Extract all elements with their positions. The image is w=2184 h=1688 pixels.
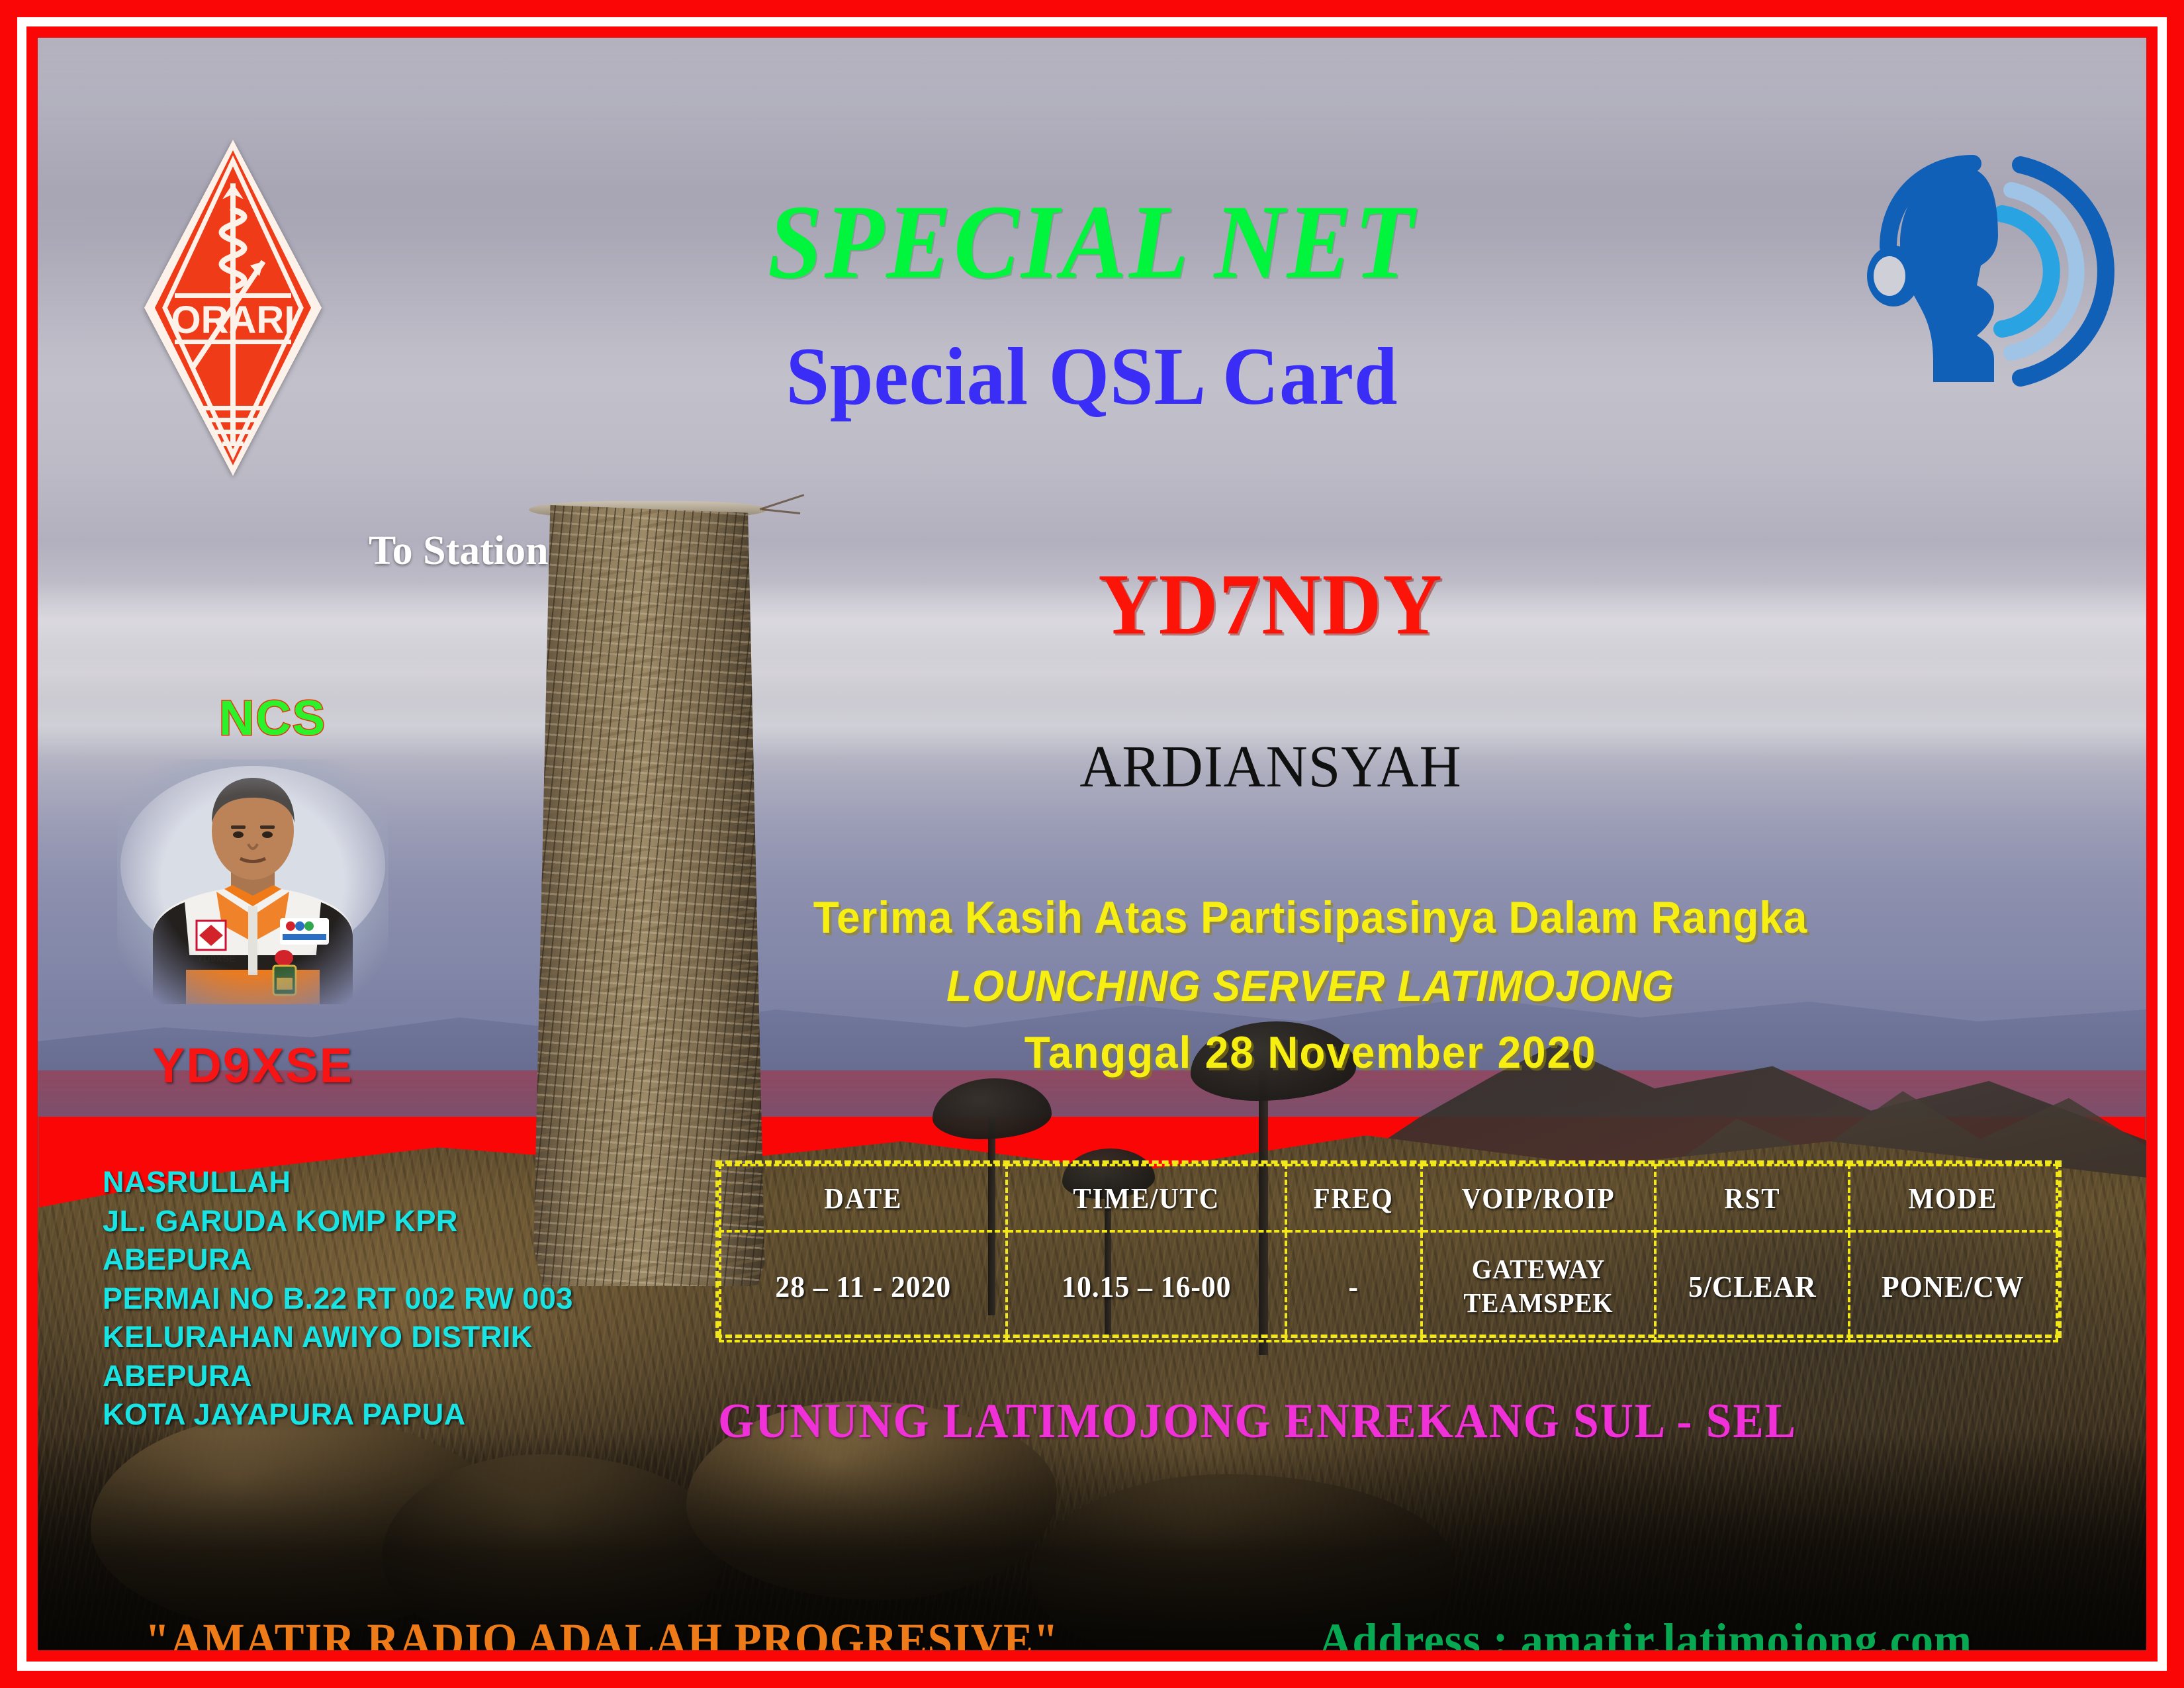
column-header-voip-roip: VOIP/ROIP — [1430, 1165, 1647, 1231]
address-line: JL. GARUDA KOMP KPR — [103, 1202, 659, 1241]
frame-red-inner-band: ORARI — [26, 26, 2158, 1662]
thanks-line-2: LOUNCHING SERVER LATIMOJONG — [786, 961, 1835, 1011]
qso-log-table: DATE TIME/UTC FREQ VOIP/ROIP RST MODE 28… — [715, 1160, 2062, 1338]
ncs-label: NCS — [173, 690, 372, 746]
photo-background: ORARI — [38, 38, 2146, 1650]
address-line: ABEPURA — [103, 1241, 659, 1280]
cell-voip-roip: GATEWAY TEAMSPEK — [1427, 1231, 1649, 1341]
ncs-operator-photo: YD9XSE — [117, 759, 388, 1004]
to-station-label: To Station — [369, 528, 549, 575]
cell-rst: 5/CLEAR — [1660, 1231, 1844, 1341]
cell-mode: PONE/CW — [1854, 1231, 2052, 1341]
cell-freq: - — [1289, 1231, 1418, 1341]
thanks-line-3: Tanggal 28 November 2020 — [786, 1027, 1835, 1078]
column-header-rst: RST — [1662, 1165, 1843, 1231]
thanks-line-1: Terima Kasih Atas Partisipasinya Dalam R… — [786, 892, 1835, 943]
address-line: KOTA JAYAPURA PAPUA — [103, 1395, 659, 1434]
frame-white-band: ORARI — [17, 17, 2167, 1671]
qsl-card: ORARI — [0, 0, 2184, 1688]
column-header-mode: MODE — [1856, 1165, 2050, 1231]
operator-name: ARDIANSYAH — [781, 733, 1760, 801]
orari-logo: ORARI — [140, 136, 326, 480]
address-block: NASRULLAH JL. GARUDA KOMP KPR ABEPURA PE… — [103, 1163, 659, 1434]
table-header-row: DATE TIME/UTC FREQ VOIP/ROIP RST MODE — [720, 1165, 2057, 1231]
thanks-block: Terima Kasih Atas Partisipasinya Dalam R… — [752, 892, 1868, 1078]
location-caption: GUNUNG LATIMOJONG ENREKANG SUL - SEL — [646, 1393, 1869, 1450]
column-header-freq: FREQ — [1291, 1165, 1416, 1231]
station-callsign: YD7NDY — [796, 561, 1745, 648]
cell-voip-roip-line2: TEAMSPEK — [1429, 1286, 1647, 1320]
address-line: NASRULLAH — [103, 1163, 659, 1202]
title-special-qsl-card: Special QSL Card — [91, 336, 2094, 418]
ncs-callsign: YD9XSE — [124, 1037, 382, 1094]
column-header-time-utc: TIME/UTC — [1016, 1165, 1276, 1231]
address-line: ABEPURA — [103, 1357, 659, 1396]
title-special-net: SPECIAL NET — [122, 189, 2062, 295]
cell-time-utc: 10.15 – 16-00 — [1013, 1231, 1279, 1341]
address-line: KELURAHAN AWIYO DISTRIK — [103, 1318, 659, 1357]
footer-slogan: "AMATIR RADIO ADALAH PROGRESIVE" — [145, 1613, 1059, 1650]
uniform-callsign-text: YD9XSE — [197, 953, 236, 964]
footer-web-address: Address : amatir.latimojong.com — [1319, 1613, 1972, 1650]
cell-voip-roip-line1: GATEWAY — [1429, 1252, 1647, 1286]
address-line: PERMAI NO B.22 RT 002 RW 003 — [103, 1280, 659, 1319]
table-row: 28 – 11 - 2020 10.15 – 16-00 - GATEWAY T… — [720, 1231, 2057, 1341]
cell-date: 28 – 11 - 2020 — [727, 1231, 999, 1341]
column-header-date: DATE — [730, 1165, 996, 1231]
